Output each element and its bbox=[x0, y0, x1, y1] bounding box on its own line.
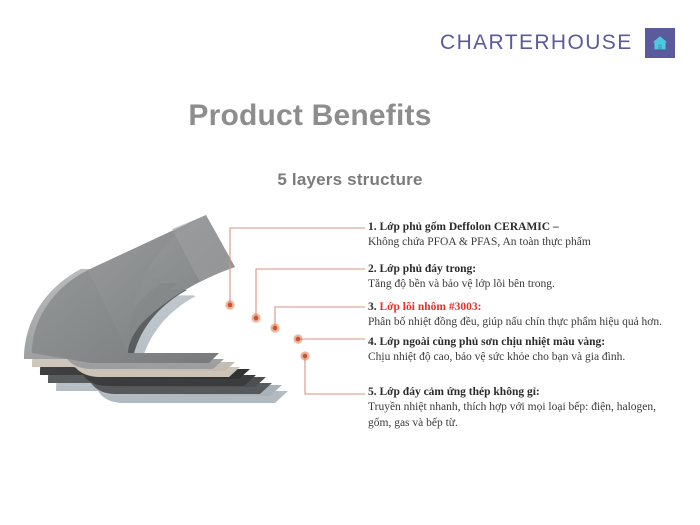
callout-5-heading: 5. Lớp đáy cảm ứng thép không gỉ: bbox=[368, 385, 678, 400]
callout-3-title: Lớp lõi nhôm #3003: bbox=[380, 301, 482, 313]
callout-item-4: 4. Lớp ngoài cùng phủ sơn chịu nhiệt màu… bbox=[368, 335, 678, 366]
slide-canvas: CHARTERHOUSE Product Benefits 5 layers s… bbox=[0, 0, 700, 525]
callout-1-number: 1. bbox=[368, 221, 377, 233]
callout-4-title: Lớp ngoài cùng phủ sơn chịu nhiệt màu và… bbox=[380, 336, 606, 348]
callout-4-number: 4. bbox=[368, 336, 377, 348]
product-layer-diagram bbox=[20, 195, 370, 445]
callout-1-heading: 1. Lớp phủ gốm Deffolon CERAMIC – bbox=[368, 220, 678, 235]
callout-2-number: 2. bbox=[368, 263, 377, 275]
callout-2-title: Lớp phủ đáy trong: bbox=[380, 263, 477, 275]
callout-3-body: Phân bố nhiệt đồng đều, giúp nấu chín th… bbox=[368, 315, 678, 331]
callout-2-heading: 2. Lớp phủ đáy trong: bbox=[368, 262, 678, 277]
callout-4-heading: 4. Lớp ngoài cùng phủ sơn chịu nhiệt màu… bbox=[368, 335, 678, 350]
callout-4-body: Chịu nhiệt độ cao, bảo vệ sức khỏe cho b… bbox=[368, 350, 678, 366]
page-title: Product Benefits bbox=[0, 99, 620, 133]
callout-2-body: Tăng độ bền và bảo vệ lớp lõi bên trong. bbox=[368, 277, 678, 293]
callout-3-number: 3. bbox=[368, 301, 377, 313]
house-icon bbox=[645, 28, 675, 58]
callout-item-5: 5. Lớp đáy cảm ứng thép không gỉ: Truyền… bbox=[368, 385, 678, 432]
page-subtitle: 5 layers structure bbox=[0, 170, 700, 190]
callout-3-heading: 3. Lớp lõi nhôm #3003: bbox=[368, 300, 678, 315]
callout-1-title: Lớp phủ gốm Deffolon CERAMIC – bbox=[380, 221, 559, 233]
callout-item-3: 3. Lớp lõi nhôm #3003: Phân bố nhiệt đồn… bbox=[368, 300, 678, 331]
callout-1-body: Không chứa PFOA & PFAS, An toàn thực phẩ… bbox=[368, 235, 678, 251]
callout-5-title: Lớp đáy cảm ứng thép không gỉ: bbox=[380, 386, 540, 398]
callout-item-2: 2. Lớp phủ đáy trong: Tăng độ bền và bảo… bbox=[368, 262, 678, 293]
callout-5-body: Truyền nhiệt nhanh, thích hợp với mọi lo… bbox=[368, 400, 678, 432]
brand-logo: CHARTERHOUSE bbox=[440, 28, 675, 58]
brand-name: CHARTERHOUSE bbox=[440, 31, 633, 55]
callout-5-number: 5. bbox=[368, 386, 377, 398]
callout-item-1: 1. Lớp phủ gốm Deffolon CERAMIC – Không … bbox=[368, 220, 678, 251]
